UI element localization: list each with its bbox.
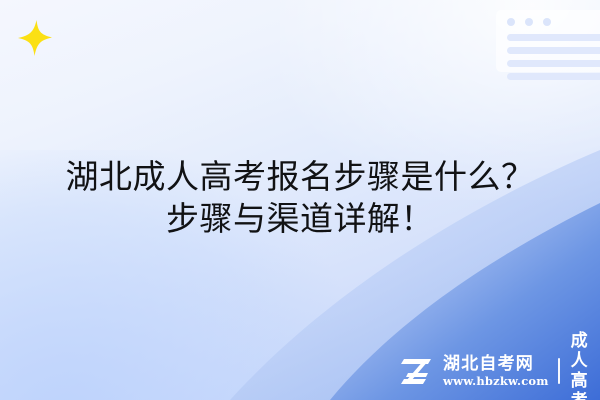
card-bar <box>507 34 600 41</box>
title-line-1: 湖北成人高考报名步骤是什么？ <box>0 156 600 198</box>
card-dots <box>507 18 551 26</box>
card-bar <box>507 47 600 54</box>
card-bar <box>507 73 600 80</box>
logo-category: 成人高考 <box>571 331 600 400</box>
card-dot <box>507 18 515 26</box>
title-line-2: 步骤与渠道详解！ <box>0 198 600 240</box>
document-card-icon <box>496 10 600 72</box>
logo-text-block: 湖北自考网 www.hbzkw.com <box>443 355 549 388</box>
logo-url: www.hbzkw.com <box>443 374 549 388</box>
card-bars <box>507 34 600 86</box>
site-logo[interactable]: 湖北自考网 www.hbzkw.com 成人高考 <box>398 352 600 390</box>
card-dot <box>543 18 551 26</box>
banner-canvas: 湖北成人高考报名步骤是什么？ 步骤与渠道详解！ 湖北自考网 www.hbzkw.… <box>0 0 600 400</box>
card-bar <box>507 60 600 67</box>
hbzkw-z-mark-icon <box>398 354 436 388</box>
sparkle-star-icon <box>13 16 57 60</box>
logo-site-name: 湖北自考网 <box>443 355 549 374</box>
card-dot <box>525 18 533 26</box>
logo-divider <box>558 358 560 384</box>
page-title: 湖北成人高考报名步骤是什么？ 步骤与渠道详解！ <box>0 156 600 240</box>
